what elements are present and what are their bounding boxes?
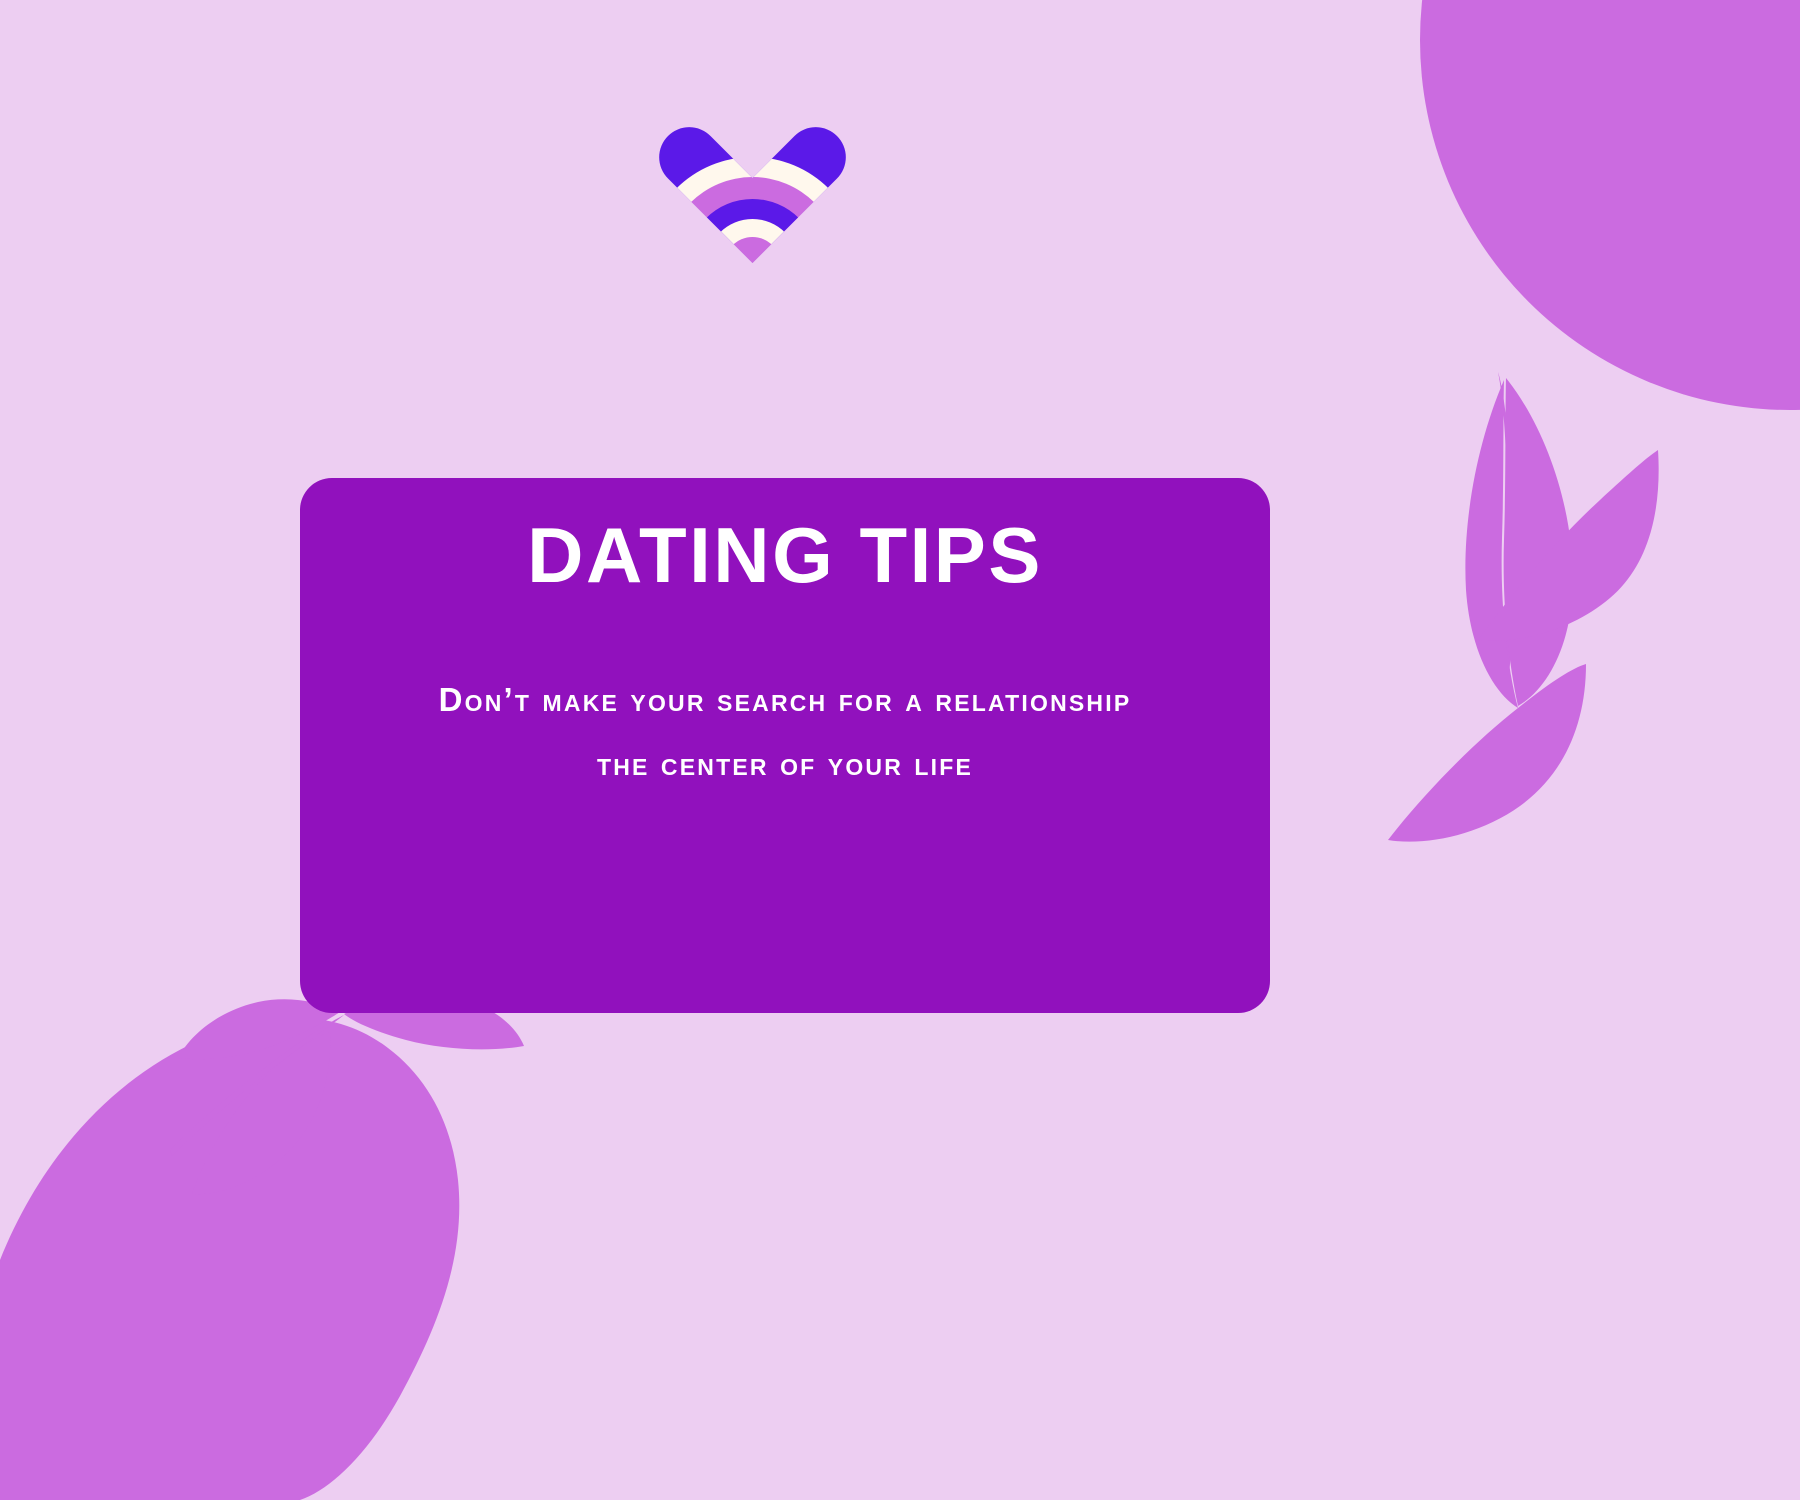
heart-logo-svg bbox=[650, 105, 855, 265]
dating-tips-card: Dating Tips Don’t make your search for a… bbox=[300, 478, 1270, 1013]
heart-rainbow-logo bbox=[650, 105, 855, 265]
leaf-sprig-bottom-left bbox=[170, 994, 524, 1194]
card-body: Don’t make your search for a relationshi… bbox=[360, 668, 1210, 797]
corner-circle-top-right bbox=[1420, 0, 1800, 410]
title-body-spacer bbox=[360, 594, 1210, 668]
blob-bottom-left bbox=[0, 1018, 459, 1500]
card-title: Dating Tips bbox=[360, 516, 1210, 594]
poster-canvas: Dating Tips Don’t make your search for a… bbox=[0, 0, 1800, 1500]
leaf-sprig-right bbox=[1388, 372, 1659, 842]
card-body-line-1: Don’t make your search for a relationshi… bbox=[439, 681, 1132, 718]
heart-arcs bbox=[650, 105, 855, 265]
card-body-line-2: the center of your life bbox=[597, 745, 973, 782]
